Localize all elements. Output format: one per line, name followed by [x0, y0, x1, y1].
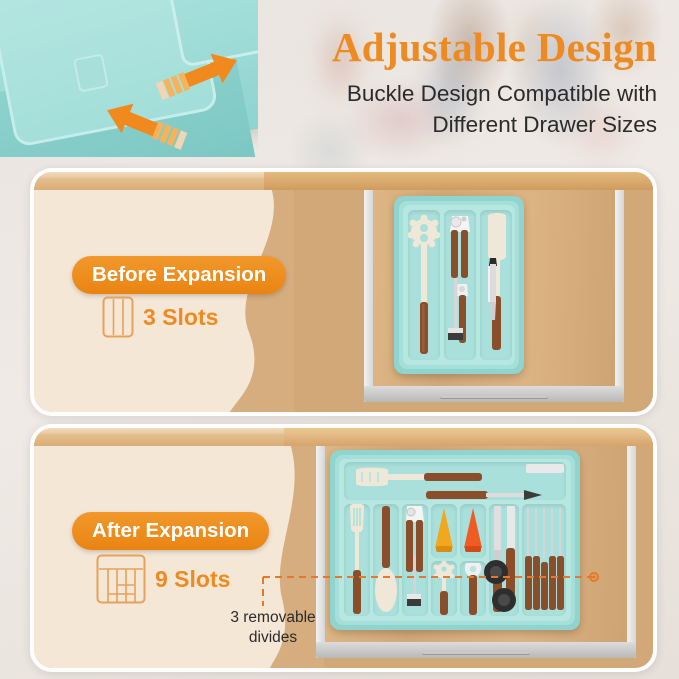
utensil-grater — [526, 464, 564, 473]
9-slot-icon — [96, 554, 146, 604]
slots-row-after: 9 Slots — [96, 554, 230, 604]
callout-caption: 3 removable divides — [198, 608, 348, 648]
countertop-strip-right-2 — [284, 428, 653, 446]
badge-after-expansion: After Expansion — [72, 512, 269, 550]
badge-before-expansion: Before Expansion — [72, 256, 286, 294]
countertop-strip-right — [264, 172, 653, 190]
slots-row-before: 3 Slots — [102, 296, 218, 338]
callout-caption-line-2: divides — [198, 628, 348, 648]
slots-count-before: 3 Slots — [143, 304, 218, 331]
subtitle-line-2: Different Drawer Sizes — [237, 109, 657, 140]
infographic-canvas: Adjustable Design Buckle Design Compatib… — [0, 0, 679, 679]
expand-arrow-left-icon — [98, 100, 194, 152]
3-slot-icon — [102, 296, 134, 338]
page-title: Adjustable Design — [237, 24, 657, 70]
organizer-tray-3-slot — [394, 196, 524, 374]
expansion-arrows-group — [98, 62, 248, 152]
expand-arrow-right-icon — [150, 50, 246, 102]
callout-caption-line-1: 3 removable — [198, 608, 348, 628]
panel-before-expansion: Before Expansion 3 Slots — [30, 168, 657, 416]
subtitle-line-1: Buckle Design Compatible with — [237, 78, 657, 109]
headline-block: Adjustable Design Buckle Design Compatib… — [237, 24, 657, 140]
organizer-tray-9-slot — [330, 450, 580, 630]
slots-count-after: 9 Slots — [155, 566, 230, 593]
